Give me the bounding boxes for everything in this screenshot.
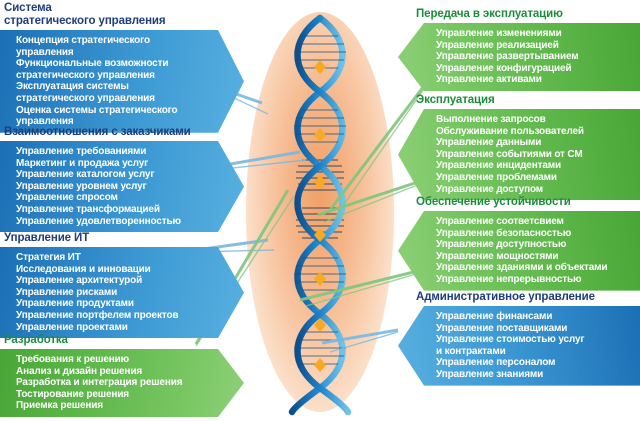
panel-customer-relationships[interactable]: Взаимоотношения с заказчиками Управление… bbox=[0, 126, 244, 232]
list-item: Управление стоимостью услуг и контрактам… bbox=[436, 334, 632, 357]
list-item: Управление удовлетворенностью bbox=[16, 216, 210, 228]
list-item: Анализ и дизайн решения bbox=[16, 366, 210, 378]
panel-item-list: Концепция стратегического управления Фун… bbox=[16, 35, 210, 128]
list-item: Управление трансформацией bbox=[16, 204, 210, 216]
list-item: Управление персоналом bbox=[436, 357, 632, 369]
list-item: Управление реализацией bbox=[436, 40, 632, 52]
list-item: Оценка системы стратегического управлени… bbox=[16, 105, 210, 128]
list-item: Управление зданиями и объектами bbox=[436, 262, 632, 274]
panel-body: Управление соответсвием Управление безоп… bbox=[398, 211, 640, 291]
list-item: Управление непрерывностью bbox=[436, 274, 632, 286]
list-item: Маркетинг и продажа услуг bbox=[16, 158, 210, 170]
panel-title: Взаимоотношения с заказчиками bbox=[4, 126, 244, 139]
list-item: Управление продуктами bbox=[16, 298, 210, 310]
list-item: Приемка решения bbox=[16, 400, 210, 412]
panel-title: Передача в эксплуатацию bbox=[416, 8, 640, 21]
list-item: Исследования и инновации bbox=[16, 264, 210, 276]
list-item: Управление проблемами bbox=[436, 172, 632, 184]
panel-item-list: Управление финансами Управление поставщи… bbox=[436, 311, 632, 381]
panel-title: Административное управление bbox=[416, 291, 640, 304]
panel-title: Эксплуатация bbox=[416, 94, 640, 107]
panel-item-list: Управление изменениями Управление реализ… bbox=[436, 28, 632, 86]
panel-it-management[interactable]: Управление ИТ Стратегия ИТ Исследования … bbox=[0, 232, 244, 338]
list-item: Обслуживание пользователей bbox=[436, 126, 632, 138]
panel-body: Концепция стратегического управления Фун… bbox=[0, 30, 244, 133]
panel-item-list: Выполнение запросов Обслуживание пользов… bbox=[436, 114, 632, 195]
panel-administrative-management[interactable]: Административное управление Управление ф… bbox=[398, 291, 640, 386]
list-item: Управление развертыванием bbox=[436, 51, 632, 63]
dna-helix-graphic bbox=[232, 0, 408, 421]
list-item: Управление изменениями bbox=[436, 28, 632, 40]
list-item: Управление событиями от СМ bbox=[436, 149, 632, 161]
panel-title: Система стратегического управления bbox=[4, 2, 244, 28]
panel-body: Управление изменениями Управление реализ… bbox=[398, 23, 640, 91]
list-item: Управление проектами bbox=[16, 322, 210, 334]
list-item: Управление портфелем проектов bbox=[16, 310, 210, 322]
list-item: Концепция стратегического управления bbox=[16, 35, 210, 58]
list-item: Выполнение запросов bbox=[436, 114, 632, 126]
panel-transition-to-operation[interactable]: Передача в эксплуатацию Управление измен… bbox=[398, 8, 640, 91]
panel-title: Обеспечение устойчивости bbox=[416, 196, 640, 209]
list-item: Управление доступом bbox=[436, 184, 632, 196]
panel-operation[interactable]: Эксплуатация Выполнение запросов Обслужи… bbox=[398, 94, 640, 200]
panel-development[interactable]: Разработка Требования к решению Анализ и… bbox=[0, 334, 244, 417]
panel-item-list: Стратегия ИТ Исследования и инновации Уп… bbox=[16, 252, 210, 333]
list-item: Разработка и интеграция решения bbox=[16, 377, 210, 389]
panel-title: Разработка bbox=[4, 334, 244, 347]
panel-title: Управление ИТ bbox=[4, 232, 244, 245]
dna-strands bbox=[232, 0, 408, 421]
list-item: Управление рисками bbox=[16, 287, 210, 299]
list-item: Управление уровнем услуг bbox=[16, 181, 210, 193]
list-item: Функциональные возможности стратегическо… bbox=[16, 58, 210, 81]
panel-item-list: Управление требованиями Маркетинг и прод… bbox=[16, 146, 210, 227]
list-item: Тостирование решения bbox=[16, 389, 210, 401]
list-item: Управление активами bbox=[436, 74, 632, 86]
panel-item-list: Управление соответсвием Управление безоп… bbox=[436, 216, 632, 286]
panel-resilience-assurance[interactable]: Обеспечение устойчивости Управление соот… bbox=[398, 196, 640, 291]
list-item: Управление поставщиками bbox=[436, 323, 632, 335]
list-item: Управление безопасностью bbox=[436, 228, 632, 240]
panel-strategic-management-system[interactable]: Система стратегического управления Конце… bbox=[0, 2, 244, 133]
panel-body: Выполнение запросов Обслуживание пользов… bbox=[398, 109, 640, 200]
list-item: Управление архитектурой bbox=[16, 275, 210, 287]
list-item: Стратегия ИТ bbox=[16, 252, 210, 264]
helix-node-markers bbox=[314, 60, 326, 372]
list-item: Эксплуатация системы стратегического упр… bbox=[16, 81, 210, 104]
list-item: Управление данными bbox=[436, 137, 632, 149]
diagram-canvas: Система стратегического управления Конце… bbox=[0, 0, 640, 421]
panel-body: Управление требованиями Маркетинг и прод… bbox=[0, 141, 244, 232]
panel-body: Требования к решению Анализ и дизайн реш… bbox=[0, 349, 244, 417]
list-item: Управление конфигурацией bbox=[436, 63, 632, 75]
panel-body: Управление финансами Управление поставщи… bbox=[398, 306, 640, 386]
list-item: Управление мощностями bbox=[436, 251, 632, 263]
list-item: Управление знаниями bbox=[436, 369, 632, 381]
list-item: Управление соответсвием bbox=[436, 216, 632, 228]
list-item: Управление финансами bbox=[436, 311, 632, 323]
panel-body: Стратегия ИТ Исследования и инновации Уп… bbox=[0, 247, 244, 338]
panel-item-list: Требования к решению Анализ и дизайн реш… bbox=[16, 354, 210, 412]
list-item: Управление каталогом услуг bbox=[16, 169, 210, 181]
list-item: Управление спросом bbox=[16, 192, 210, 204]
list-item: Управление инцидентами bbox=[436, 160, 632, 172]
list-item: Требования к решению bbox=[16, 354, 210, 366]
list-item: Управление требованиями bbox=[16, 146, 210, 158]
list-item: Управление доступностью bbox=[436, 239, 632, 251]
